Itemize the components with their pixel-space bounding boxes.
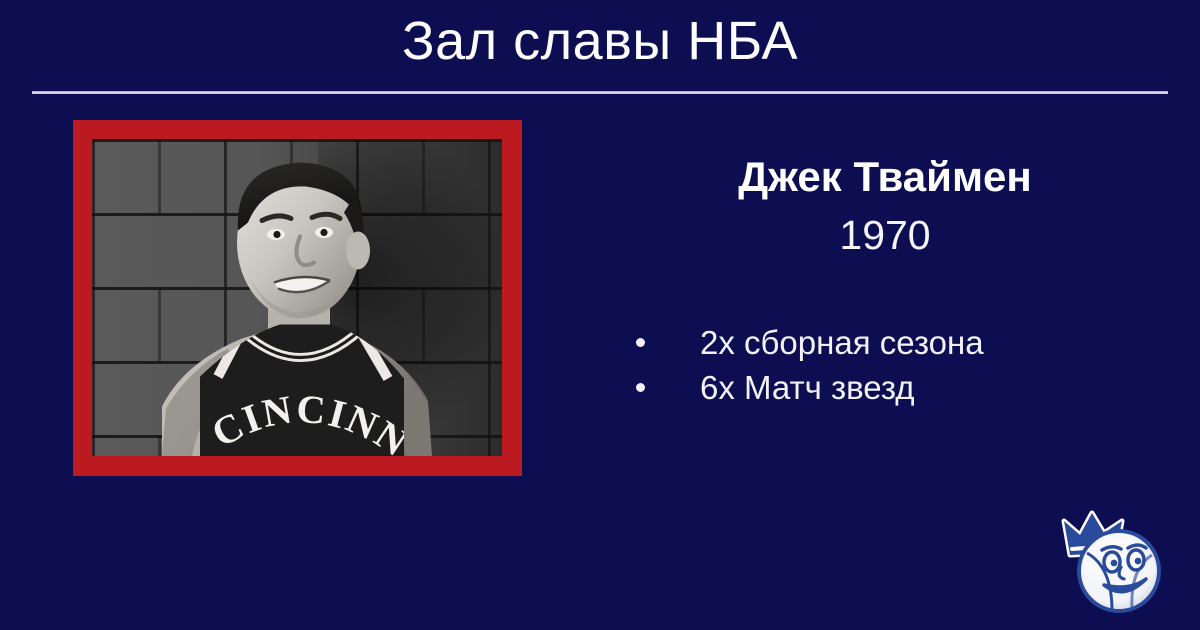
bullet-dot-icon xyxy=(636,383,645,392)
slide-canvas: Зал славы НБА xyxy=(0,0,1200,630)
title-divider xyxy=(32,91,1168,94)
achievement-label: 6x Матч звезд xyxy=(700,369,915,406)
player-photo: CINCINNATI xyxy=(92,139,502,456)
mascot-basketball-crown-icon xyxy=(1052,505,1172,620)
page-title: Зал славы НБА xyxy=(0,8,1200,74)
achievements-list: 2x сборная сезона 6x Матч звезд xyxy=(628,320,1168,410)
achievement-label: 2x сборная сезона xyxy=(700,324,984,361)
player-name: Джек Тваймен xyxy=(600,152,1170,202)
player-figure: CINCINNATI xyxy=(92,139,502,456)
player-photo-frame: CINCINNATI xyxy=(73,120,522,476)
list-item: 2x сборная сезона xyxy=(628,320,1168,365)
bullet-dot-icon xyxy=(636,338,645,347)
list-item: 6x Матч звезд xyxy=(628,365,1168,410)
induction-year: 1970 xyxy=(600,210,1170,260)
